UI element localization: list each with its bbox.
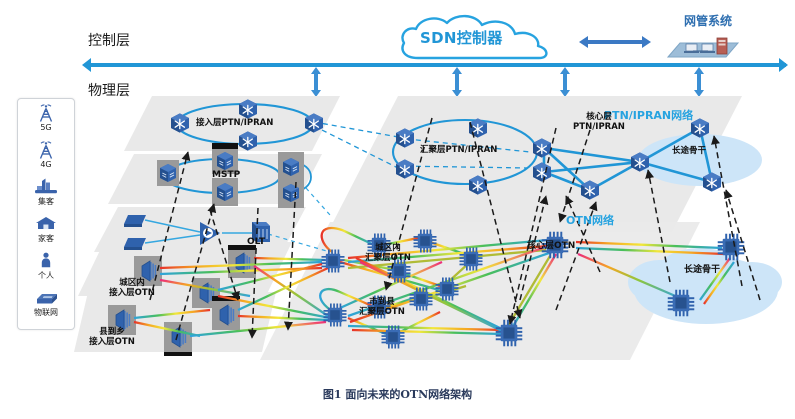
figure-root: 5G 4G [0,0,795,419]
otn-backbone-cloud [628,248,782,324]
otn-access-node [200,283,214,303]
vertical-double-arrow-icon [560,67,570,97]
olt-links [145,220,252,243]
access-ptn-label: 接入层PTN/IPRAN [196,118,273,128]
vertical-double-arrow-icon [452,67,462,97]
core-ptn-label: 核心层 PTN/IPRAN [556,112,642,132]
mstp-node-cap [212,143,238,149]
otn-agg-city-node [382,326,405,349]
ptn-access-node [239,131,257,150]
splitter-icon [200,222,220,245]
otn-agg-urban-line1: 城区内 [352,243,424,253]
legend-item-home: 家客 [18,214,74,251]
otn-access-county-line1: 县到乡 [76,327,148,337]
cell-tower-5g-icon [35,103,57,123]
mstp-node [283,158,299,176]
legend-label: 集客 [38,197,54,207]
legend-item-enterprise: 集客 [18,177,74,214]
ptn-agg-node [533,138,551,157]
otn-agg-urban-node [460,248,483,271]
ptn-agg-node [396,128,414,147]
vertical-double-arrow-icon [694,67,704,97]
slab-olt [94,207,306,252]
device-type-legend: 5G 4G [17,98,75,330]
ptn-access-node [239,99,257,118]
cpe-device-icon [124,215,146,227]
otn-core-node [496,320,523,347]
vertical-double-arrow-icon [311,67,321,97]
ptn-backbone-node [691,118,709,137]
figure-caption: 图1 面向未来的OTN网络架构 [0,386,795,402]
otn-access-urban-line2: 接入层OTN [96,288,168,298]
legend-label: 4G [40,160,51,170]
mstp-node-bg [157,160,179,186]
mstp-node-bg [212,178,238,206]
mstp-ring-right [279,163,311,191]
ptn-backbone-label: 长途骨干 [672,146,706,156]
aggregation-ptn-label: 汇聚层PTN/IPRAN [420,145,497,155]
legend-item-4g: 4G [18,140,74,177]
mstp-node [283,184,299,202]
otn-backbone-node [718,234,745,261]
core-ptn-label-line1: 核心层 [556,112,642,122]
legend-item-personal: 个人 [18,251,74,288]
otn-agg-urban-node [436,278,459,301]
otn-backbone-label: 长途骨干 [684,265,720,275]
control-to-physical-arrows [0,0,795,100]
otn-access-county-label: 县到乡 接入层OTN [76,327,148,347]
legend-label: 个人 [38,271,54,281]
otn-access-urban-line1: 城区内 [96,278,168,288]
mstp-to-otn-dashed [268,188,330,252]
otn-access-urban-label: 城区内 接入层OTN [96,278,168,298]
ptn-agg-node [469,118,487,137]
home-icon [33,214,59,234]
olt-label: OLT [247,237,265,247]
cell-tower-4g-icon [35,140,57,160]
otn-access-node [220,305,234,325]
core-ptn-mesh [544,128,712,190]
legend-label: 家客 [38,234,54,244]
mstp-label: MSTP [212,170,240,180]
legend-label: 5G [40,123,51,133]
core-ptn-label-line2: PTN/IPRAN [556,122,642,132]
cpe-device-icon [124,238,146,250]
otn-access-node [172,327,186,347]
otn-access-node [236,253,250,273]
otn-agg-city-node [324,304,347,327]
legend-item-5g: 5G [18,103,74,140]
ptn-backbone-cloud [638,134,762,186]
slab-otn-core [260,222,700,360]
backbone-clouds [628,134,782,324]
legend-item-iot: 物联网 [18,288,74,325]
ptn-access-node [171,113,189,132]
mstp-node [217,152,233,170]
otn-access-county-line2: 接入层OTN [76,337,148,347]
otn-agg-city-line1: 市到县 [346,297,418,307]
ptn-backbone-node [703,172,721,191]
ptn-access-node [305,113,323,132]
otn-agg-city-line2: 汇聚层OTN [346,307,418,317]
mstp-node [217,183,233,201]
legend-label: 物联网 [34,308,58,318]
otn-core-label: 核心层OTN [527,241,575,251]
person-icon [36,251,56,271]
otn-agg-urban-line2: 汇聚层OTN [352,253,424,263]
mstp-node [160,164,176,182]
ptn-agg-node [396,159,414,178]
otn-wdm-links [134,228,734,336]
otn-backbone-node [668,290,695,317]
ptn-core-node [581,180,599,199]
layer-slabs [74,96,742,360]
iot-gateway-icon [32,288,60,308]
otn-agg-urban-label: 城区内 汇聚层OTN [352,243,424,263]
otn-agg-urban-node [322,250,345,273]
mstp-node-bg [278,152,304,208]
ptn-agg-node [533,162,551,181]
ptn-core-node [631,152,649,171]
otn-network-title: OTN网络 [566,212,614,228]
enterprise-building-icon [33,177,59,197]
ptn-agg-node [469,175,487,194]
otn-agg-city-label: 市到县 汇聚层OTN [346,297,418,317]
